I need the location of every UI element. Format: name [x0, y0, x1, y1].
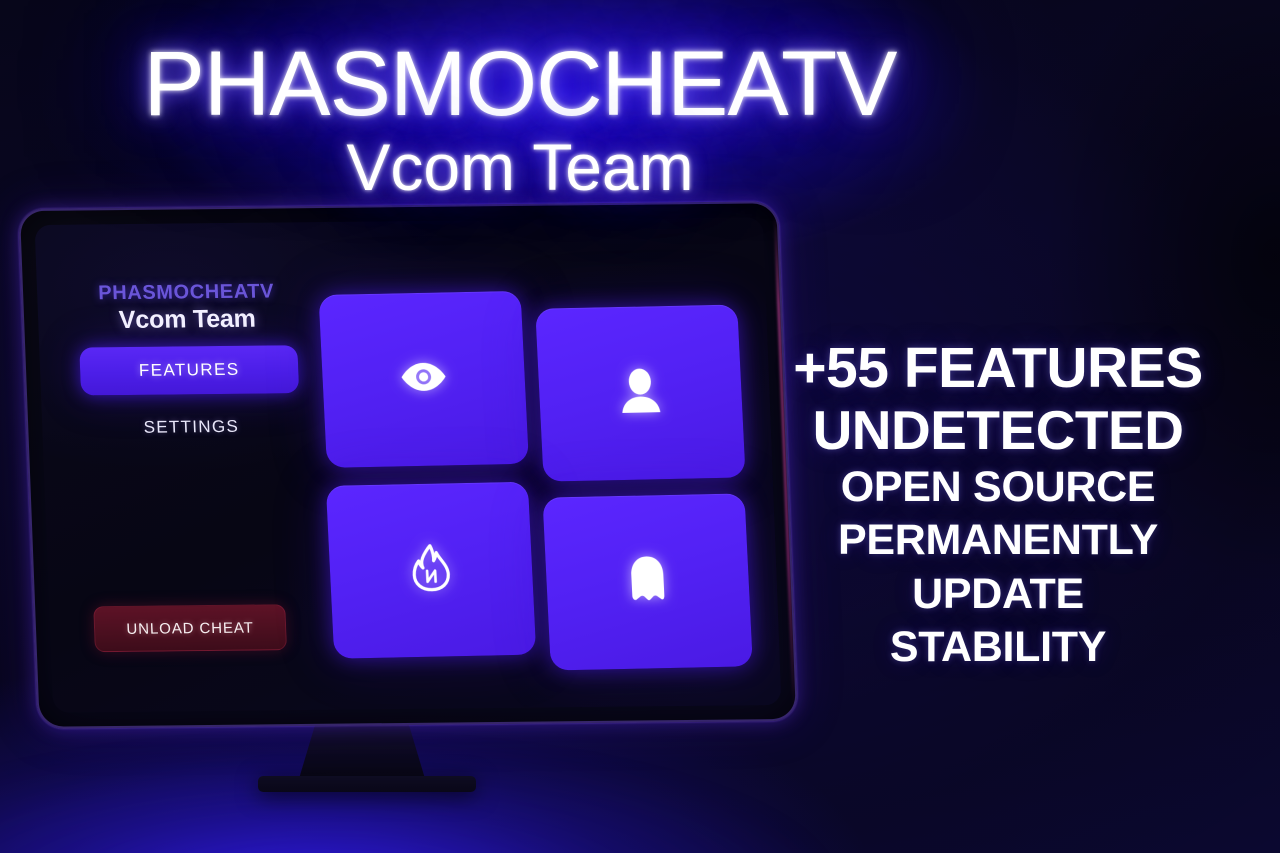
pitch-permanently: PERMANENTLY [750, 514, 1246, 567]
app-sidebar: PHASMOCHEATV Vcom Team FEATURES SETTINGS… [77, 280, 311, 688]
pitch-stability: STABILITY [750, 621, 1246, 674]
app-name-label: PHASMOCHEATV [77, 280, 296, 305]
pitch-undetected: UNDETECTED [750, 400, 1246, 461]
unload-cheat-button[interactable]: UNLOAD CHEAT [93, 604, 287, 652]
feature-pitch-list: +55 FEATURES UNDETECTED OPEN SOURCE PERM… [750, 338, 1246, 674]
hero-title: PHASMOCHEATV [0, 38, 1040, 130]
monitor-stand-neck [298, 722, 426, 782]
flame-icon [410, 543, 453, 597]
hero-banner: PHASMOCHEATV Vcom Team [0, 38, 1040, 200]
sidebar-item-settings-label: SETTINGS [143, 417, 239, 438]
app-team-label: Vcom Team [78, 304, 297, 335]
monitor-bezel: PHASMOCHEATV Vcom Team FEATURES SETTINGS… [18, 201, 798, 729]
monitor: PHASMOCHEATV Vcom Team FEATURES SETTINGS… [18, 201, 798, 729]
person-icon [619, 367, 661, 419]
scene-background: PHASMOCHEATV Vcom Team PHASMOCHEATV Vcom… [0, 0, 1280, 853]
feature-tile-grid [320, 296, 752, 660]
player-tile[interactable] [535, 305, 745, 482]
eye-icon [398, 359, 450, 399]
hero-subtitle: Vcom Team [0, 134, 1040, 200]
pitch-open-source: OPEN SOURCE [750, 461, 1246, 514]
monitor-screen: PHASMOCHEATV Vcom Team FEATURES SETTINGS… [35, 217, 782, 712]
pitch-update: UPDATE [750, 568, 1246, 621]
esp-tile[interactable] [319, 291, 529, 468]
sidebar-item-features[interactable]: FEATURES [79, 345, 299, 395]
pitch-features-count: +55 FEATURES [750, 338, 1246, 398]
monitor-stand-base [258, 776, 476, 792]
ghost-tile[interactable] [542, 493, 752, 670]
ghost-icon [626, 555, 669, 609]
flame-tile[interactable] [326, 482, 536, 659]
sidebar-item-features-label: FEATURES [138, 360, 239, 381]
sidebar-item-settings[interactable]: SETTINGS [82, 409, 301, 445]
unload-cheat-label: UNLOAD CHEAT [126, 619, 254, 637]
